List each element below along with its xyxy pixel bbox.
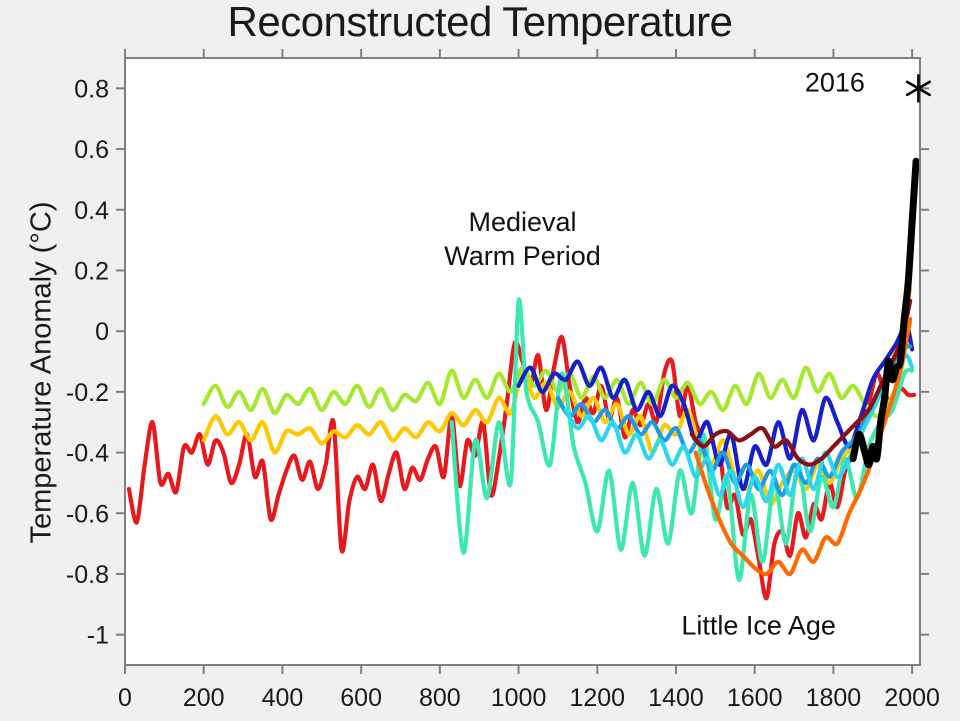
annotation-medieval-warm-period-line2: Warm Period — [444, 241, 601, 271]
x-tick-label: 2000 — [884, 684, 940, 712]
y-tick-label: 0.6 — [74, 136, 109, 164]
y-tick-label: 0.8 — [74, 75, 109, 103]
chart-container: Reconstructed Temperature Temperature An… — [0, 0, 960, 721]
x-tick-label: 1800 — [806, 684, 862, 712]
x-tick-label: 200 — [183, 684, 225, 712]
y-tick-label: -0.2 — [66, 379, 109, 407]
annotation-medieval-warm-period-line1: Medieval — [468, 207, 576, 237]
y-tick-label: 0 — [95, 318, 109, 346]
x-tick-label: 1400 — [648, 684, 704, 712]
x-tick-label: 800 — [419, 684, 461, 712]
x-tick-label: 400 — [262, 684, 304, 712]
x-tick-label: 1200 — [569, 684, 625, 712]
y-tick-label: 0.4 — [74, 197, 109, 225]
x-tick-label: 1000 — [491, 684, 547, 712]
x-tick-label: 600 — [340, 684, 382, 712]
x-tick-label: 1600 — [727, 684, 783, 712]
annotation-2016-label: 2016 — [805, 67, 865, 97]
x-tick-label: 0 — [118, 684, 132, 712]
y-tick-label: -0.8 — [66, 561, 109, 589]
y-tick-label: -1 — [87, 622, 109, 650]
chart-svg: 0200400600800100012001400160018002000-1-… — [0, 0, 960, 721]
y-tick-label: -0.6 — [66, 500, 109, 528]
annotation-little-ice-age: Little Ice Age — [681, 611, 836, 641]
y-tick-label: 0.2 — [74, 257, 109, 285]
y-tick-label: -0.4 — [66, 440, 109, 468]
